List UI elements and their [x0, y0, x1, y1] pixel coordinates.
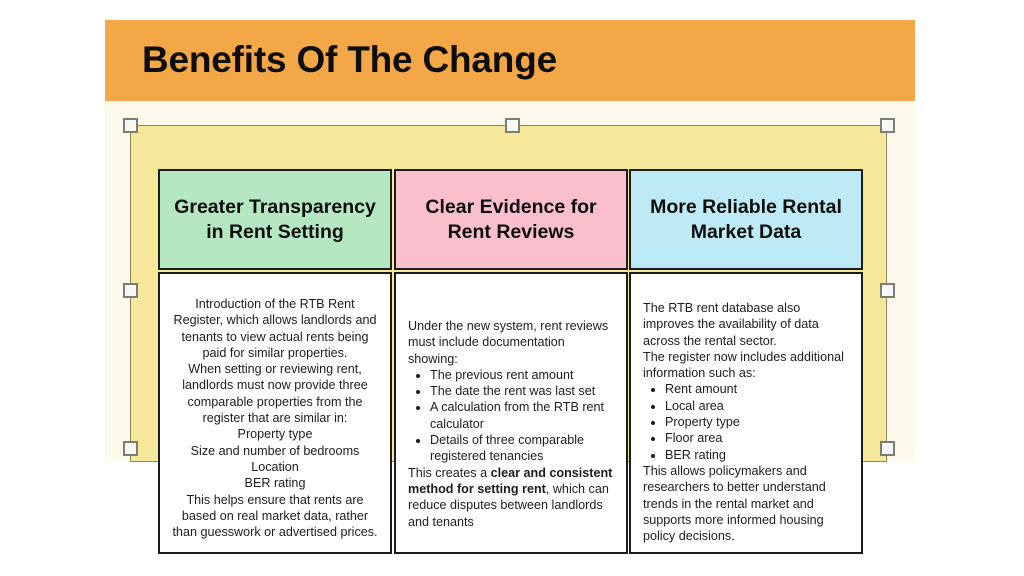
- body-bullet-list: The previous rent amountThe date the ren…: [408, 367, 614, 465]
- page-title: Benefits Of The Change: [142, 39, 557, 81]
- body-paragraph: The RTB rent database also improves the …: [643, 300, 849, 349]
- body-paragraph-emphasised: This creates a clear and consistent meth…: [408, 465, 614, 530]
- list-item: Local area: [665, 398, 849, 414]
- body-paragraph: The register now includes additional inf…: [643, 349, 849, 382]
- handle-top-left[interactable]: [123, 118, 138, 133]
- column-reliable-data[interactable]: More Reliable Rental Market Data The RTB…: [629, 169, 863, 554]
- body-paragraph: Size and number of bedrooms: [172, 443, 378, 459]
- list-item: BER rating: [665, 447, 849, 463]
- body-paragraph: Location: [172, 459, 378, 475]
- column-body-card[interactable]: The RTB rent database also improves the …: [629, 272, 863, 554]
- handle-middle-left[interactable]: [123, 283, 138, 298]
- handle-top-right[interactable]: [880, 118, 895, 133]
- body-bullet-list: Rent amountLocal areaProperty typeFloor …: [643, 381, 849, 462]
- column-header-card[interactable]: More Reliable Rental Market Data: [629, 169, 863, 270]
- body-paragraph: Under the new system, rent reviews must …: [408, 318, 614, 367]
- body-paragraph: BER rating: [172, 475, 378, 491]
- body-paragraph: Introduction of the RTB Rent Register, w…: [172, 296, 378, 361]
- body-paragraph: This allows policymakers and researchers…: [643, 463, 849, 544]
- title-banner[interactable]: Benefits Of The Change: [105, 20, 915, 101]
- list-item: Details of three comparable registered t…: [430, 432, 614, 465]
- list-item: Floor area: [665, 430, 849, 446]
- column-body-card[interactable]: Under the new system, rent reviews must …: [394, 272, 628, 554]
- column-clear-evidence[interactable]: Clear Evidence for Rent Reviews Under th…: [394, 169, 628, 554]
- list-item: Property type: [665, 414, 849, 430]
- handle-top-center[interactable]: [505, 118, 520, 133]
- slide-canvas: Benefits Of The Change Greater Transpare…: [0, 0, 1024, 576]
- column-header-card[interactable]: Greater Transparency in Rent Setting: [158, 169, 392, 270]
- handle-middle-right[interactable]: [880, 283, 895, 298]
- list-item: The previous rent amount: [430, 367, 614, 383]
- handle-bottom-left[interactable]: [123, 441, 138, 456]
- list-item: A calculation from the RTB rent calculat…: [430, 399, 614, 432]
- column-body-card[interactable]: Introduction of the RTB Rent Register, w…: [158, 272, 392, 554]
- body-paragraph: Property type: [172, 426, 378, 442]
- body-paragraph: This helps ensure that rents are based o…: [172, 492, 378, 541]
- list-item: Rent amount: [665, 381, 849, 397]
- list-item: The date the rent was last set: [430, 383, 614, 399]
- body-paragraph: When setting or reviewing rent, landlord…: [172, 361, 378, 426]
- emphasis-text: clear and consistent method for setting …: [408, 466, 612, 496]
- column-greater-transparency[interactable]: Greater Transparency in Rent Setting Int…: [158, 169, 392, 554]
- handle-bottom-right[interactable]: [880, 441, 895, 456]
- column-header-card[interactable]: Clear Evidence for Rent Reviews: [394, 169, 628, 270]
